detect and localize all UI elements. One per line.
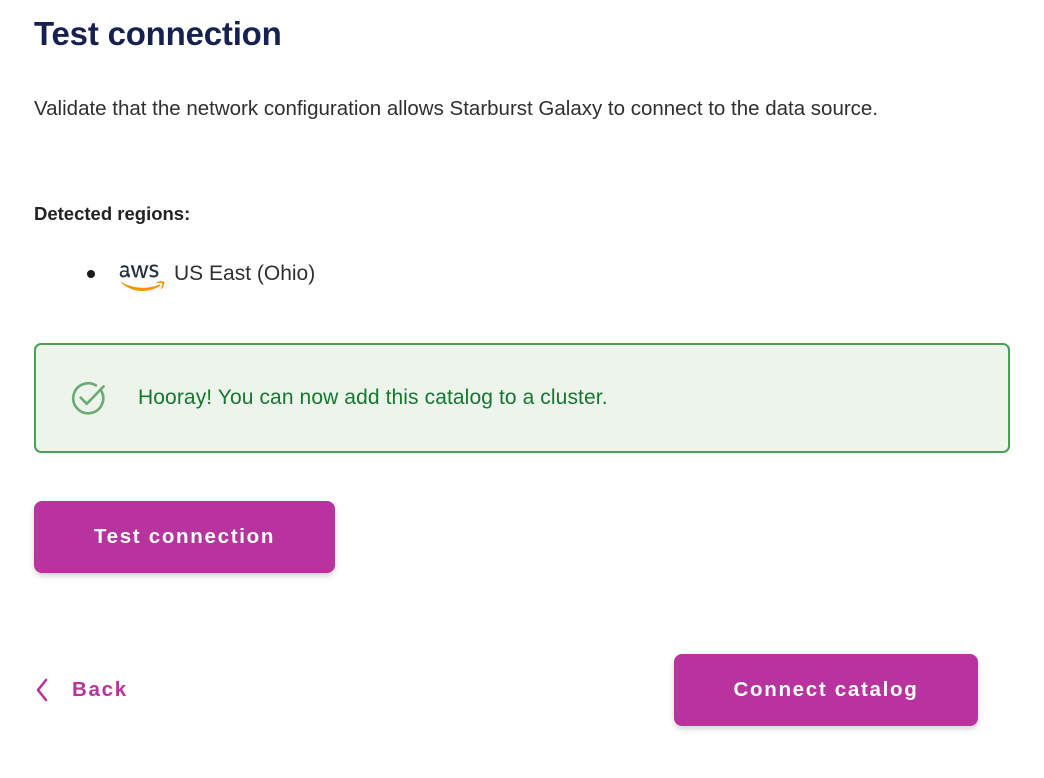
list-item: US East (Ohio)	[34, 256, 315, 292]
test-connection-panel: Test connection Validate that the networ…	[0, 0, 1044, 778]
status-banner-message: Hooray! You can now add this catalog to …	[138, 384, 608, 412]
check-circle-icon	[68, 377, 110, 419]
panel-description: Validate that the network configuration …	[34, 85, 994, 133]
aws-logo-icon	[116, 260, 166, 293]
page-title: Test connection	[34, 12, 282, 56]
detected-regions-label: Detected regions:	[34, 201, 190, 227]
status-banner-success: Hooray! You can now add this catalog to …	[34, 343, 1010, 453]
detected-regions-list: US East (Ohio)	[34, 256, 315, 292]
region-name: US East (Ohio)	[174, 262, 315, 286]
test-connection-button[interactable]: Test connection	[34, 501, 335, 573]
back-button-label: Back	[72, 678, 128, 702]
chevron-left-icon	[34, 677, 50, 703]
back-button[interactable]: Back	[34, 668, 128, 712]
connect-catalog-button[interactable]: Connect catalog	[674, 654, 978, 726]
bullet-icon	[87, 270, 95, 278]
